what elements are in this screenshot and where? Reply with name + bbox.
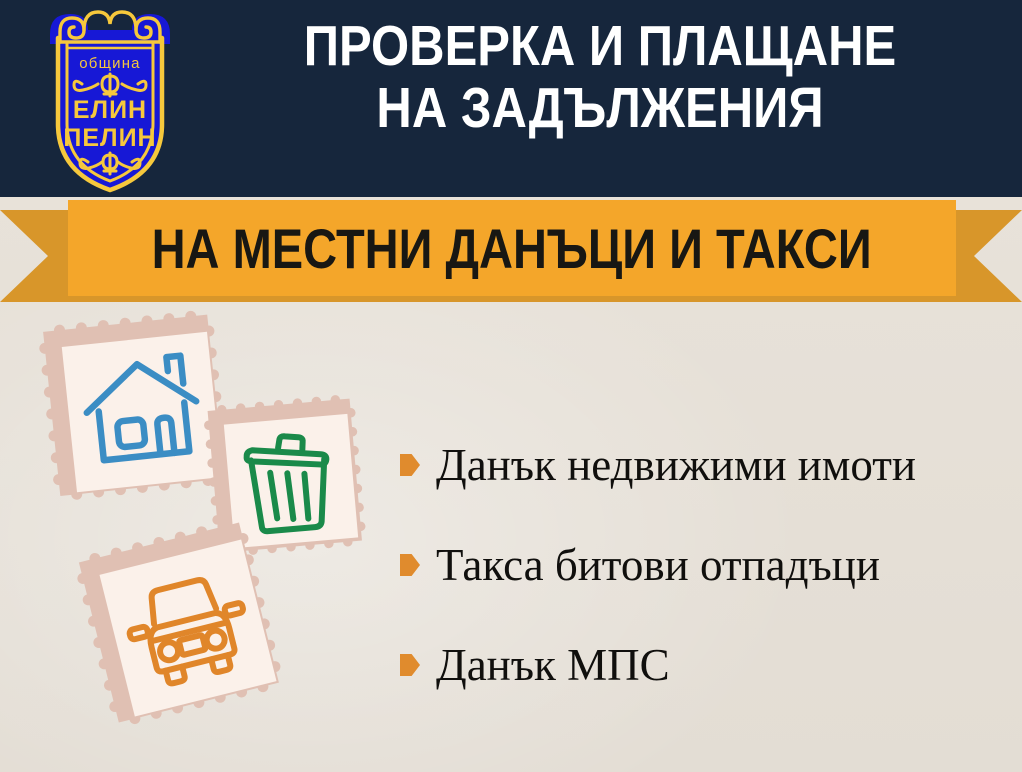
bullet-arrow-icon [400,454,420,476]
list-item-label: Данък недвижими имоти [436,443,916,488]
subtitle-ribbon: НА МЕСТНИ ДАНЪЦИ И ТАКСИ [0,196,1022,308]
list-item[interactable]: Данък МПС [400,615,1010,715]
list-item-label: Такса битови отпадъци [436,543,880,588]
page-title: ПРОВЕРКА И ПЛАЩАНЕ НА ЗАДЪЛЖЕНИЯ [190,16,1010,139]
stamp-collage [0,300,420,772]
ribbon-label: НА МЕСТНИ ДАНЪЦИ И ТАКСИ [152,216,872,281]
title-line-2: НА ЗАДЪЛЖЕНИЯ [247,78,952,140]
header-bar: община ЕЛИН ПЕЛИН [0,0,1022,197]
bullet-arrow-icon [400,554,420,576]
svg-text:ПЕЛИН: ПЕЛИН [63,124,156,152]
list-item[interactable]: Данък недвижими имоти [400,415,1010,515]
title-line-1: ПРОВЕРКА И ПЛАЩАНЕ [247,16,952,78]
municipality-logo: община ЕЛИН ПЕЛИН [36,4,184,194]
svg-text:община: община [79,55,140,72]
ribbon-banner: НА МЕСТНИ ДАНЪЦИ И ТАКСИ [68,200,956,296]
bullet-arrow-icon [400,654,420,676]
svg-text:ЕЛИН: ЕЛИН [73,96,147,124]
tax-types-list: Данък недвижими имоти Такса битови отпад… [400,415,1010,715]
list-item-label: Данък МПС [436,643,670,688]
list-item[interactable]: Такса битови отпадъци [400,515,1010,615]
poster-canvas: община ЕЛИН ПЕЛИН [0,0,1022,772]
coat-of-arms-icon: община ЕЛИН ПЕЛИН [36,4,184,194]
